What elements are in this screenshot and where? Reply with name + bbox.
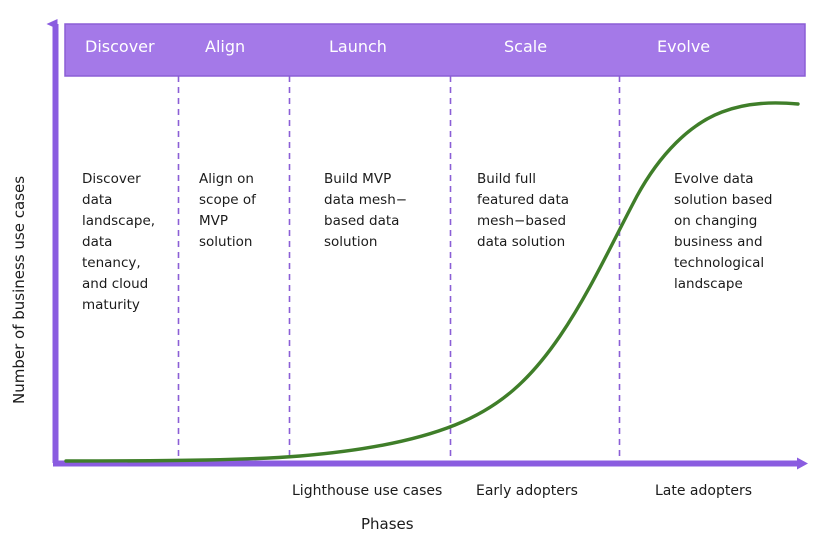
phase-text-line: Discover — [82, 171, 141, 187]
adopter-label-late: Late adopters — [655, 483, 752, 499]
phase-text-line: on changing — [674, 213, 757, 229]
phase-text-line: data — [82, 234, 112, 250]
phase-text-line: based data — [324, 213, 399, 229]
phase-text-line: mesh−based — [477, 213, 566, 229]
phase-text-line: Align on — [199, 171, 254, 187]
phase-text-line: solution — [199, 234, 252, 250]
phase-text-line: solution based — [674, 192, 773, 208]
adopter-label-early: Early adopters — [476, 483, 578, 499]
phase-text-line: technological — [674, 255, 764, 271]
phase-header-label-launch: Launch — [329, 37, 387, 56]
phase-text-line: Evolve data — [674, 171, 754, 187]
phase-text-line: data — [82, 192, 112, 208]
roadmap-s-curve-chart: Discover Align Launch Scale Evolve Disco… — [0, 0, 819, 543]
phase-text-line: featured data — [477, 192, 569, 208]
adopter-label-lighthouse: Lighthouse use cases — [292, 483, 442, 499]
phase-header-bar: Discover Align Launch Scale Evolve — [65, 24, 805, 76]
x-axis-title: Phases — [361, 515, 414, 533]
phase-text-line: MVP — [199, 213, 228, 229]
phase-text-line: maturity — [82, 297, 140, 313]
phase-text-line: data mesh− — [324, 192, 407, 208]
phase-header-label-scale: Scale — [504, 37, 547, 56]
phase-text-line: landscape, — [82, 213, 155, 229]
phase-text-line: data solution — [477, 234, 565, 250]
phase-text-line: tenancy, — [82, 255, 141, 271]
phase-text-line: and cloud — [82, 276, 148, 292]
phase-header-label-evolve: Evolve — [657, 37, 710, 56]
phase-header-label-align: Align — [205, 37, 245, 56]
phase-text-line: landscape — [674, 276, 743, 292]
phase-text-line: scope of — [199, 192, 257, 208]
phase-text-line: Build full — [477, 171, 536, 187]
phase-text-line: solution — [324, 234, 377, 250]
adopter-label-group: Lighthouse use cases Early adopters Late… — [292, 483, 752, 499]
phase-text-line: Build MVP — [324, 171, 391, 187]
y-axis-title: Number of business use cases — [10, 176, 28, 404]
phase-text-line: business and — [674, 234, 763, 250]
phase-header-label-discover: Discover — [85, 37, 155, 56]
